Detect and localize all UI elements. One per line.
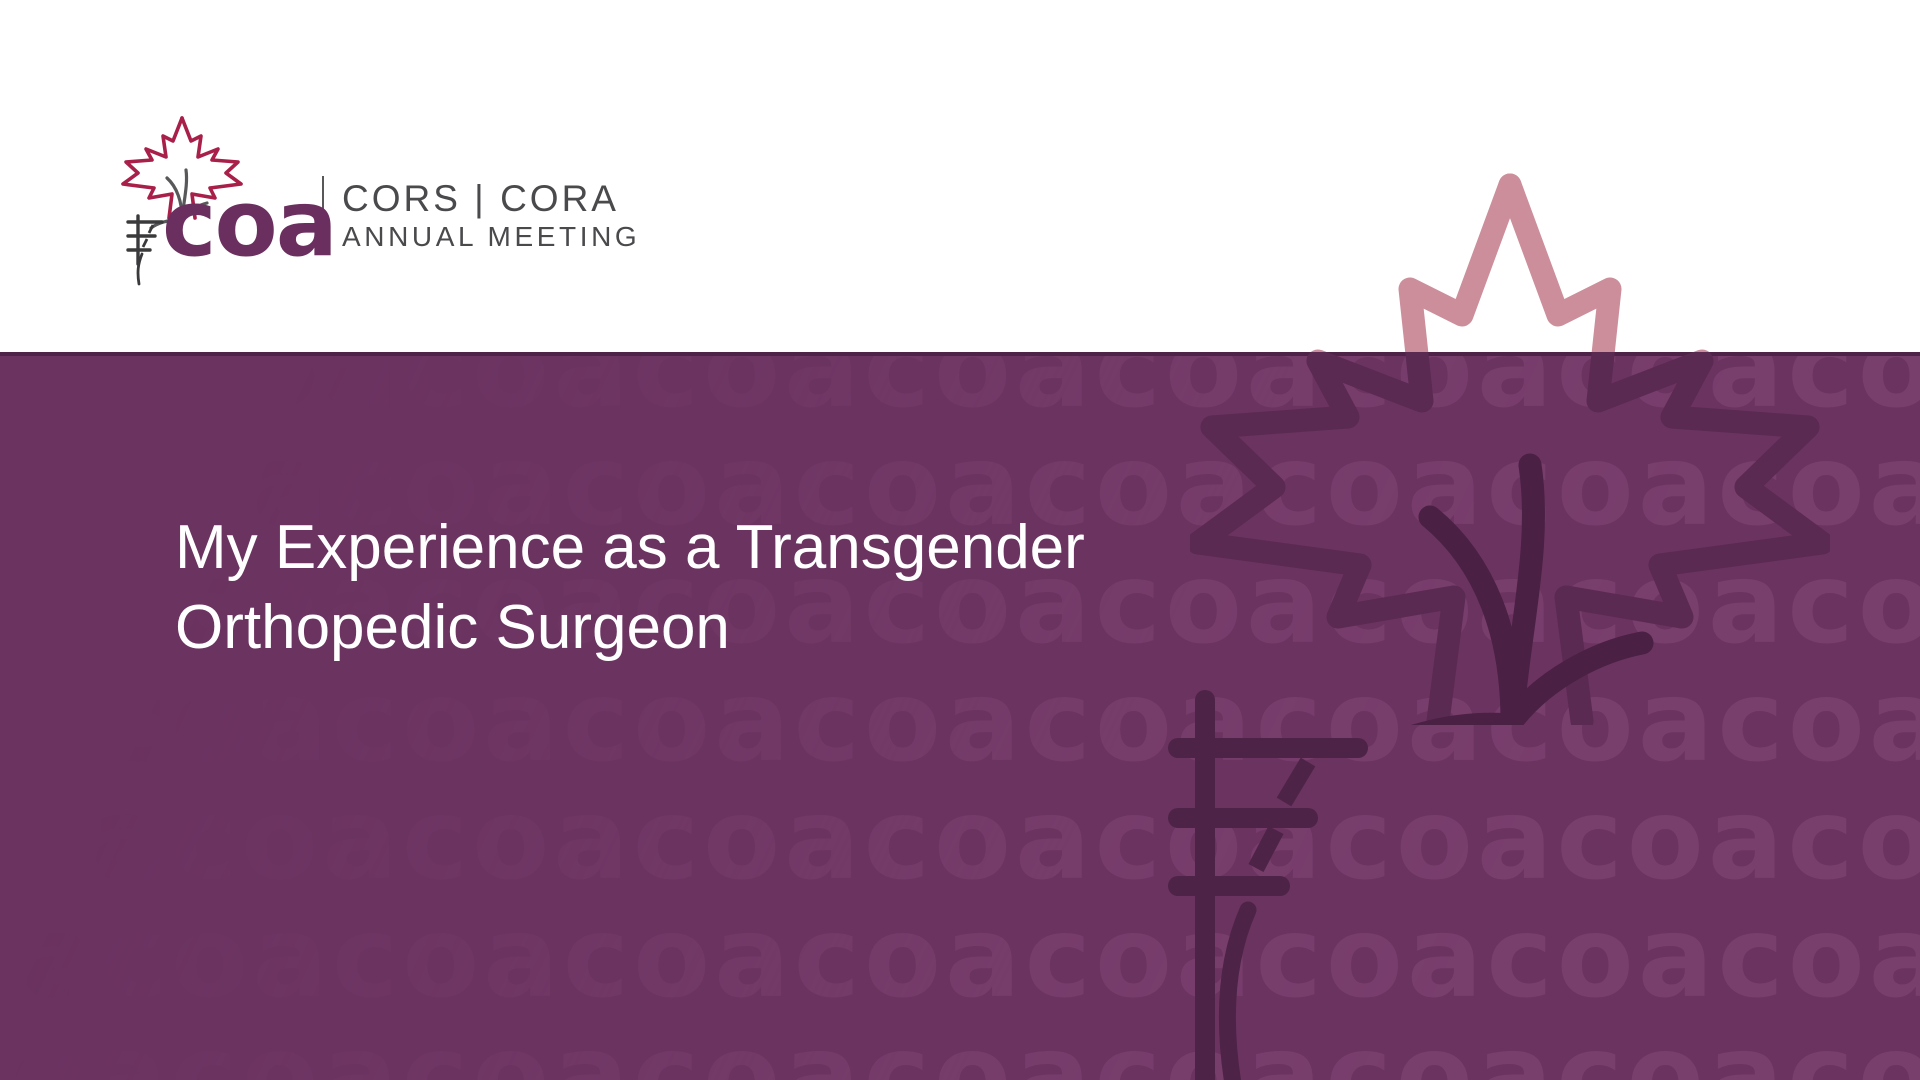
logo-event-line: ANNUAL MEETING bbox=[342, 220, 640, 254]
watermark-row: coacoacoacoacoacoacoacoacoacoacoa bbox=[0, 902, 1920, 1014]
coa-logo-mark: coa bbox=[122, 112, 300, 264]
coa-logo-lockup[interactable]: coa CORS | CORA ANNUAL MEETING bbox=[122, 112, 640, 264]
logo-societies-line: CORS | CORA bbox=[342, 178, 640, 220]
coa-wordmark: coa bbox=[162, 178, 336, 270]
logo-text-block: CORS | CORA ANNUAL MEETING bbox=[342, 178, 640, 254]
slide-title: My Experience as a Transgender Orthopedi… bbox=[175, 508, 1295, 668]
slide-title-line-2: Orthopedic Surgeon bbox=[175, 588, 1295, 668]
watermark-row: coacoacoacoacoacoacoacoacoacoacoa bbox=[0, 1020, 1920, 1080]
presentation-slide: coacoacoacoacoacoacoacoacoacoacoacoacoac… bbox=[0, 0, 1920, 1080]
watermark-row: coacoacoacoacoacoacoacoacoacoacoa bbox=[0, 784, 1920, 896]
decorative-stake-mark bbox=[1160, 690, 1460, 1080]
slide-title-line-1: My Experience as a Transgender bbox=[175, 508, 1295, 588]
